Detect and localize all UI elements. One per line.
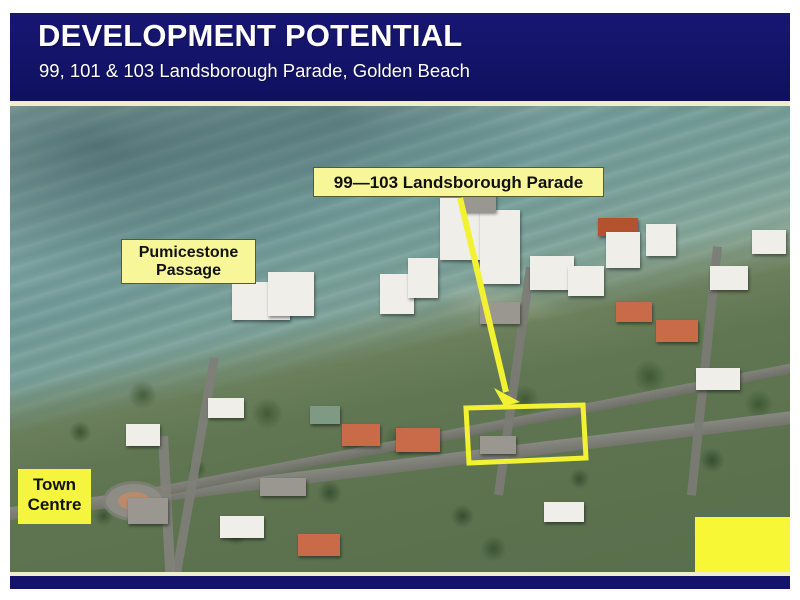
page-title: DEVELOPMENT POTENTIAL	[38, 18, 462, 54]
page-subtitle: 99, 101 & 103 Landsborough Parade, Golde…	[39, 60, 470, 82]
header-band: DEVELOPMENT POTENTIAL 99, 101 & 103 Land…	[10, 13, 790, 101]
slide-canvas: DEVELOPMENT POTENTIAL 99, 101 & 103 Land…	[0, 0, 800, 600]
site-highlight-rectangle	[466, 405, 586, 463]
callout-town-line1: Town	[33, 475, 76, 494]
callout-passage-line1: Pumicestone	[139, 244, 239, 261]
footer-band	[10, 576, 790, 589]
leader-arrow-icon	[460, 198, 520, 406]
callout-pumicestone-passage: Pumicestone Passage	[121, 239, 256, 284]
callout-address-text: 99—103 Landsborough Parade	[334, 173, 583, 192]
callout-passage-line2: Passage	[156, 262, 221, 279]
blank-yellow-swatch	[695, 517, 790, 572]
callout-town-centre: Town Centre	[18, 469, 91, 524]
callout-town-line2: Centre	[28, 495, 82, 514]
aerial-photograph: Pumicestone Passage 99—103 Landsborough …	[10, 106, 790, 572]
callout-site-address: 99—103 Landsborough Parade	[313, 167, 604, 197]
